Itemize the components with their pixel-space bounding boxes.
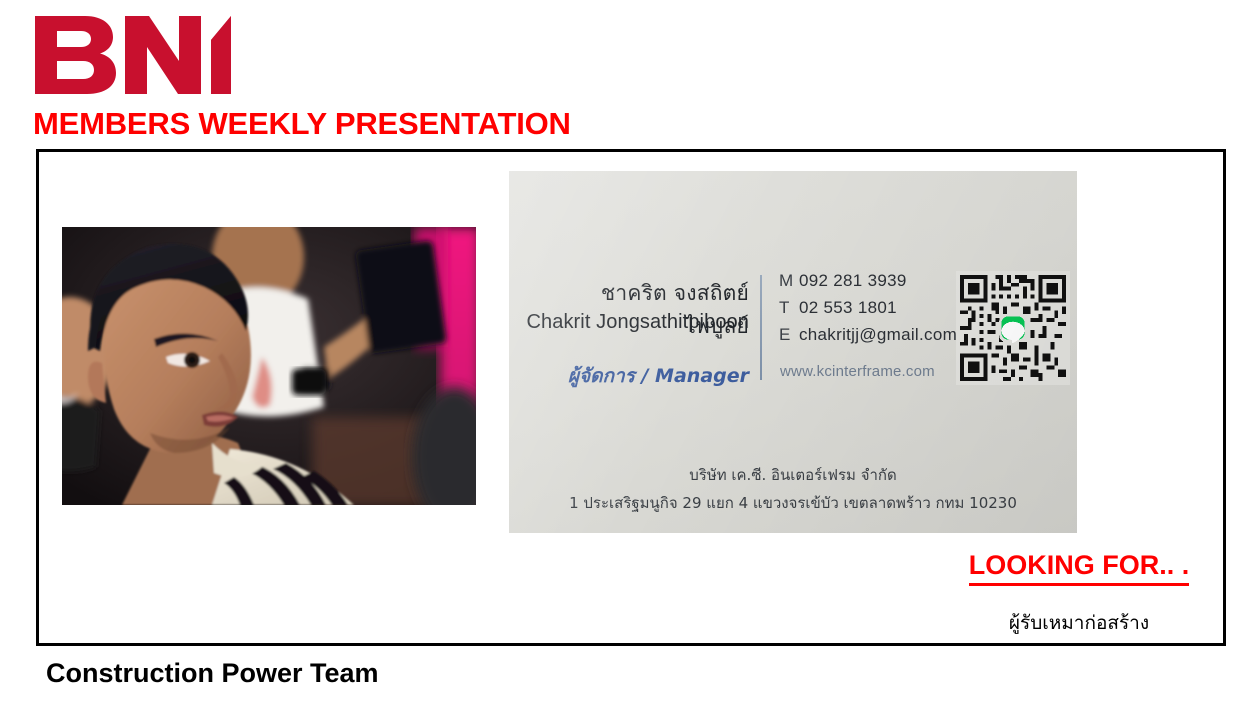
member-photo xyxy=(62,227,476,505)
looking-for-block: LOOKING FOR.. . ผู้รับเหมาก่อสร้าง xyxy=(954,550,1204,638)
contact-row-mobile: M 092 281 3939 xyxy=(779,271,957,291)
card-role: ผู้จัดการ / Manager xyxy=(529,361,749,391)
telephone-value: 02 553 1801 xyxy=(799,298,897,318)
looking-for-label: LOOKING FOR.. . xyxy=(969,550,1190,586)
contact-row-telephone: T 02 553 1801 xyxy=(779,298,957,318)
card-contact-list: M 092 281 3939 T 02 553 1801 E chakritjj… xyxy=(779,271,957,352)
contact-row-email: E chakritjj@gmail.com xyxy=(779,325,957,345)
business-card: ชาคริต จงสถิตย์ไพบูลย์ Chakrit Jongsathi… xyxy=(509,171,1077,533)
team-caption: Construction Power Team xyxy=(46,658,379,689)
content-frame: ชาคริต จงสถิตย์ไพบูลย์ Chakrit Jongsathi… xyxy=(36,149,1226,646)
card-address: บริษัท เค.ซี. อินเตอร์เฟรม จำกัด 1 ประเส… xyxy=(509,463,1077,515)
card-divider xyxy=(760,275,762,380)
presentation-slide: MEMBERS WEEKLY PRESENTATION xyxy=(0,0,1259,705)
card-website: www.kcinterframe.com xyxy=(780,363,935,380)
address-line-1: บริษัท เค.ซี. อินเตอร์เฟรม จำกัด xyxy=(509,463,1077,487)
telephone-key: T xyxy=(779,298,799,318)
mobile-value: 092 281 3939 xyxy=(799,271,907,291)
mobile-key: M xyxy=(779,271,799,291)
bni-logo xyxy=(33,14,233,96)
address-line-2: 1 ประเสริฐมนูกิจ 29 แยก 4 แขวงจรเข้บัว เ… xyxy=(509,491,1077,515)
email-value: chakritjj@gmail.com xyxy=(799,325,957,345)
line-qr-code-icon xyxy=(956,271,1070,385)
page-title: MEMBERS WEEKLY PRESENTATION xyxy=(33,106,571,142)
looking-for-value: ผู้รับเหมาก่อสร้าง xyxy=(954,608,1204,638)
email-key: E xyxy=(779,325,799,345)
card-name-english: Chakrit Jongsathitpiboon xyxy=(519,311,749,334)
